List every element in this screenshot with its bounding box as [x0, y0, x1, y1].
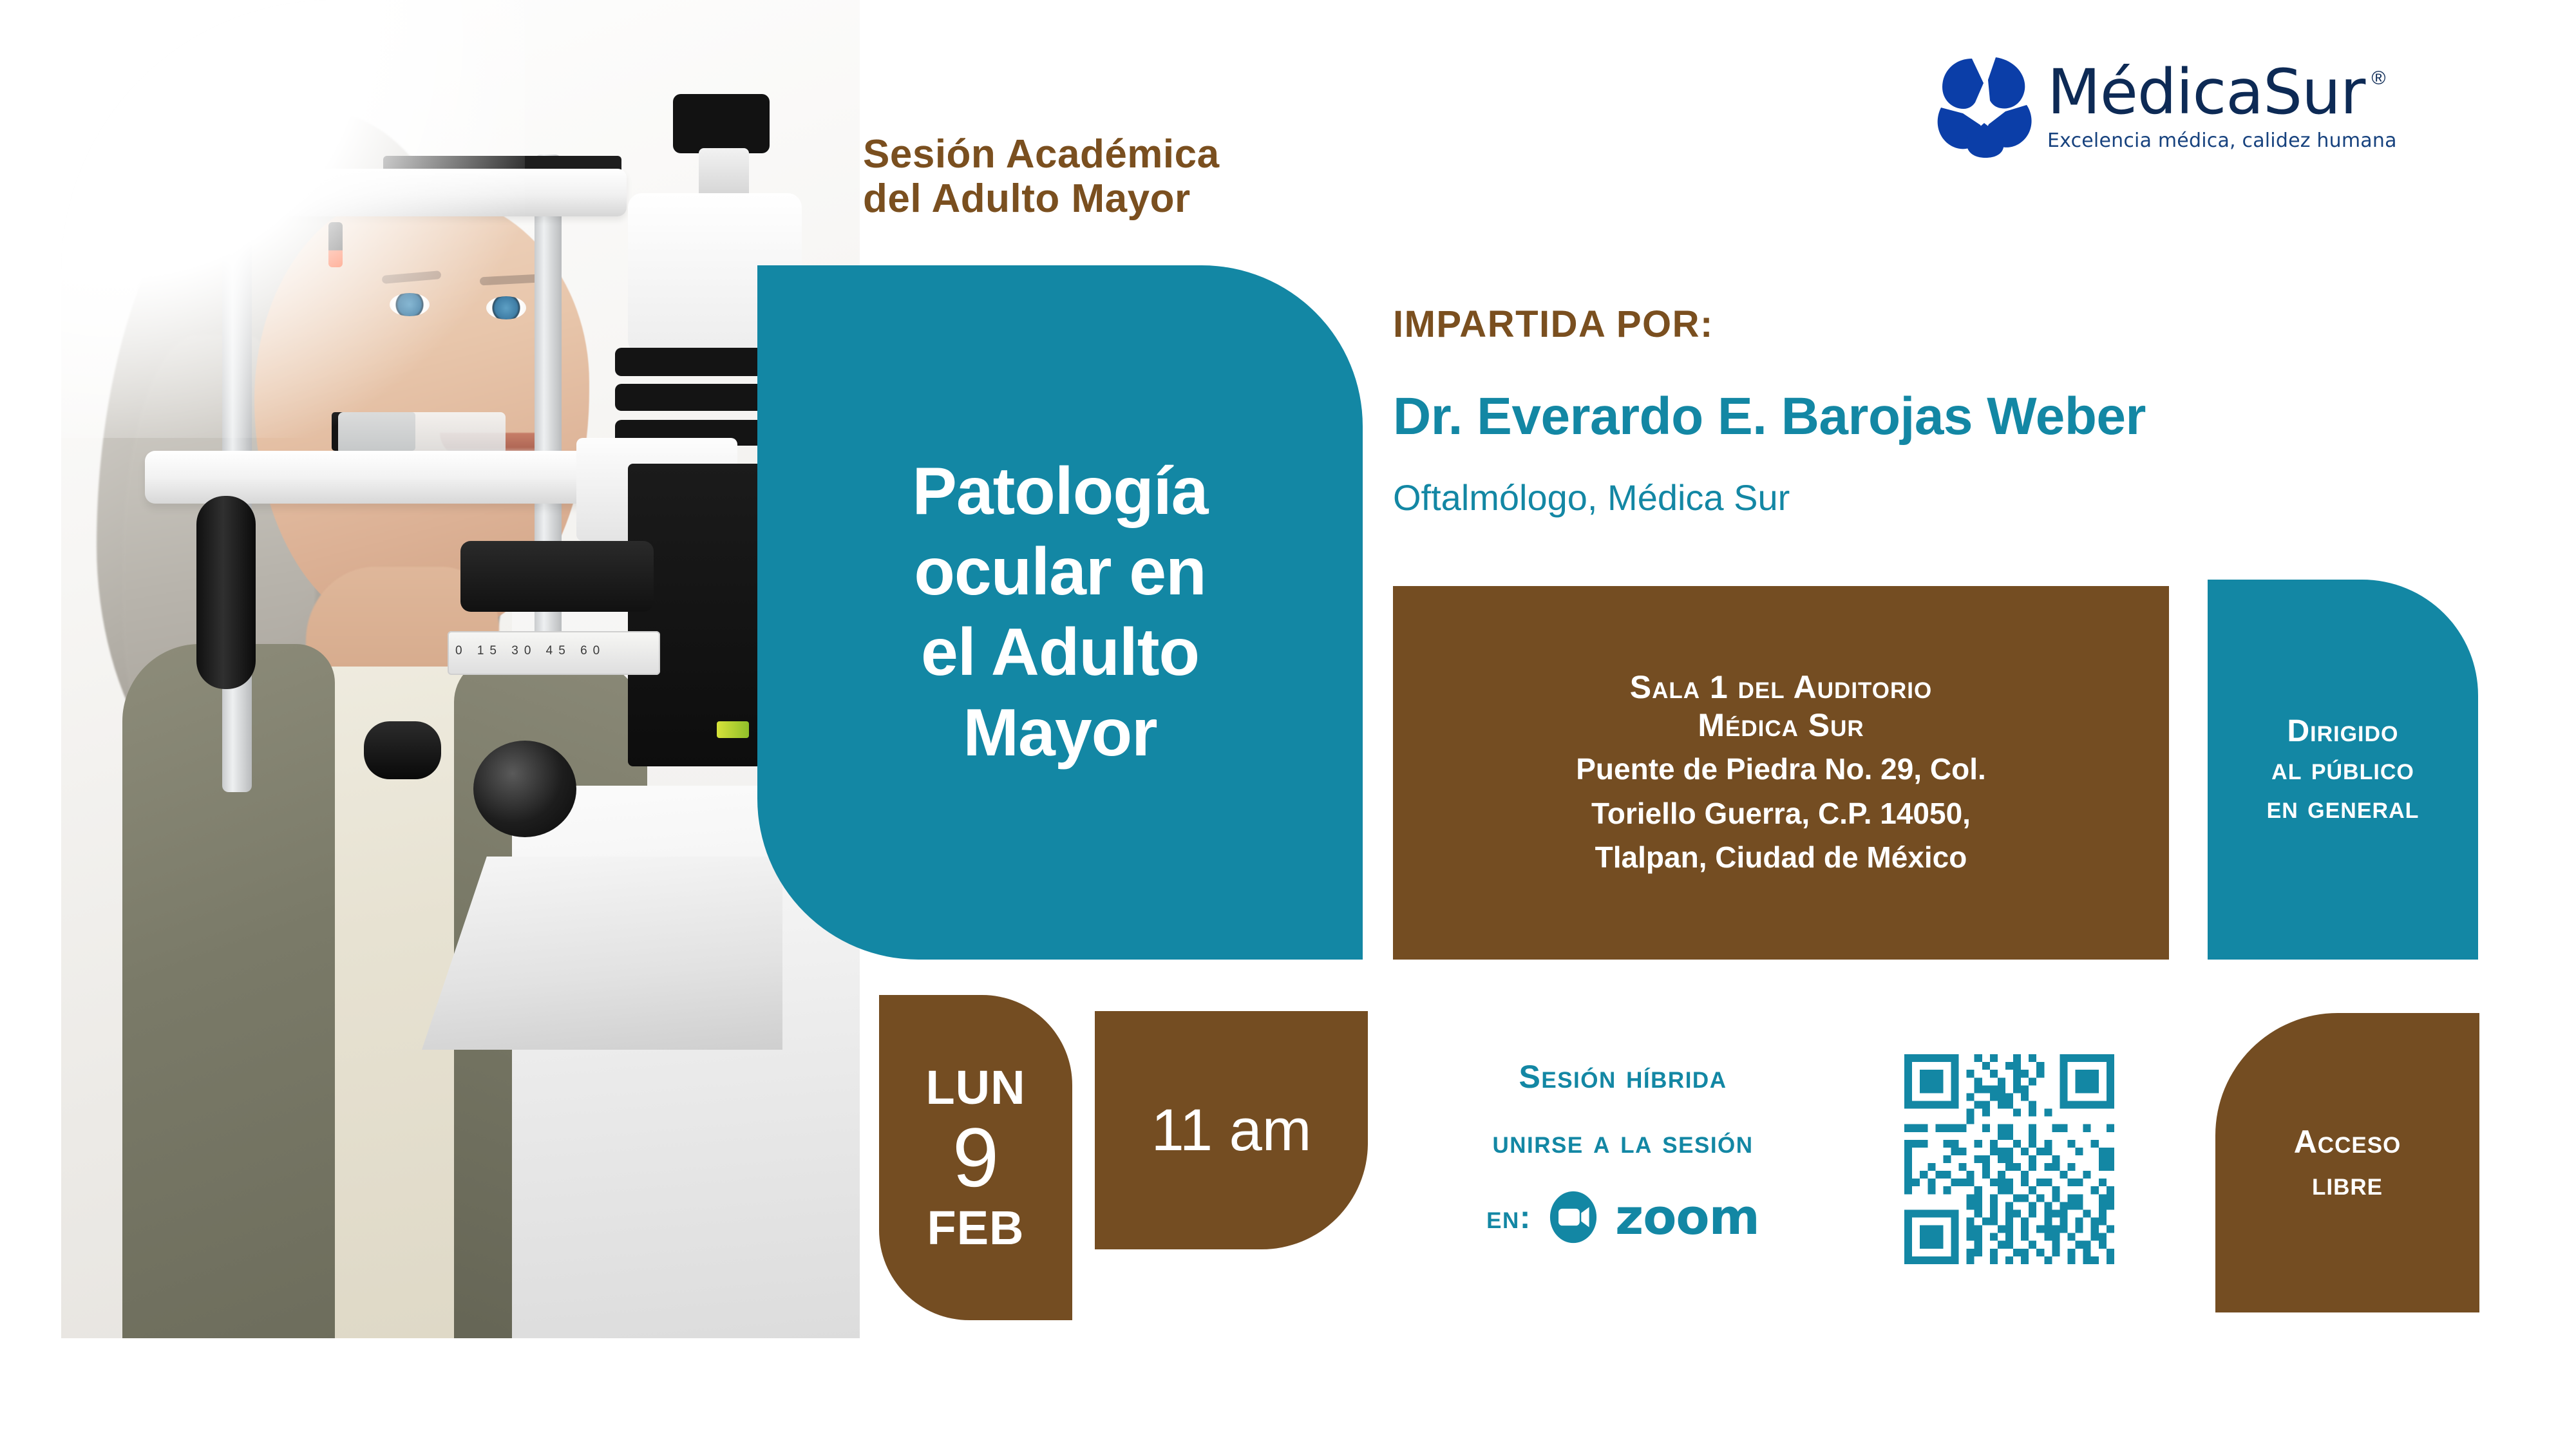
- venue-line-1: Sala 1 del Auditorio: [1630, 668, 1933, 706]
- venue-line-2: Médica Sur: [1698, 706, 1864, 744]
- photo-slitlamp-black-rod: [196, 496, 256, 689]
- hybrid-line-2: unirse a la sesión: [1423, 1124, 1823, 1160]
- zoom-camera-icon: [1547, 1191, 1600, 1244]
- speaker-role: Oftalmólogo, Médica Sur: [1393, 477, 1790, 518]
- speaker-label: IMPARTIDA POR:: [1393, 303, 1714, 346]
- logo-wordmark: MédicaSur ® Excelencia médica, calidez h…: [2047, 61, 2397, 152]
- registered-trademark-icon: ®: [2371, 68, 2385, 90]
- date-badge: LUN 9 FEB: [879, 995, 1072, 1320]
- venue-address-line-3: Tlalpan, Ciudad de México: [1595, 838, 1967, 877]
- photo-slitlamp-dial: [460, 541, 654, 612]
- audience-line-3: en general: [2267, 789, 2420, 828]
- photo-slitlamp-side-knob: [364, 721, 441, 779]
- kicker-line-1: Sesión Académica: [863, 132, 1443, 176]
- date-day-of-week: LUN: [925, 1063, 1025, 1113]
- medica-sur-petal-logo-icon: [1935, 55, 2032, 158]
- zoom-link-row[interactable]: en: zoom: [1423, 1191, 1823, 1244]
- photo-slitlamp-eyepiece: [673, 94, 770, 153]
- photo-white-fade: [61, 0, 525, 438]
- kicker-line-2: del Adulto Mayor: [863, 176, 1443, 221]
- session-title-block: Patología ocular en el Adulto Mayor: [757, 265, 1363, 960]
- qr-code[interactable]: [1897, 1046, 2122, 1272]
- medica-sur-logo: MédicaSur ® Excelencia médica, calidez h…: [1935, 52, 2450, 161]
- photo-scene: 0 15 30 45 60: [61, 0, 860, 1338]
- title-line-3: el Adulto: [912, 612, 1207, 693]
- photo-slitlamp-indicator-light: [717, 721, 749, 738]
- date-month: FEB: [927, 1203, 1025, 1253]
- speaker-name: Dr. Everardo E. Barojas Weber: [1393, 386, 2146, 447]
- date-day-number: 9: [952, 1113, 999, 1202]
- logo-tagline: Excelencia médica, calidez humana: [2047, 129, 2397, 152]
- audience-badge: Dirigido al público en general: [2208, 580, 2478, 960]
- series-kicker: Sesión Académica del Adulto Mayor: [863, 132, 1443, 222]
- audience-line-2: al público: [2267, 750, 2420, 789]
- access-line-1: Acceso: [2294, 1121, 2401, 1163]
- zoom-wordmark: zoom: [1615, 1193, 1759, 1242]
- poster-canvas: 0 15 30 45 60 MédicaSur ®: [0, 0, 2576, 1449]
- photo-slitlamp-joystick-knob: [473, 741, 576, 837]
- hybrid-session-info: Sesión híbrida unirse a la sesión en: zo…: [1423, 1059, 1823, 1244]
- photo-slitlamp-chin-bar: [145, 451, 589, 504]
- audience-line-1: Dirigido: [2267, 712, 2420, 751]
- venue-box: Sala 1 del Auditorio Médica Sur Puente d…: [1393, 586, 2169, 960]
- title-line-1: Patología: [912, 451, 1207, 532]
- title-line-4: Mayor: [912, 693, 1207, 773]
- hybrid-line-1: Sesión híbrida: [1423, 1059, 1823, 1095]
- title-line-2: ocular en: [912, 532, 1207, 612]
- venue-address-line-1: Puente de Piedra No. 29, Col.: [1576, 750, 1986, 789]
- photo-slitlamp-scale-marks: 0 15 30 45 60: [455, 644, 655, 658]
- access-badge: Acceso libre: [2215, 1013, 2479, 1312]
- access-line-2: libre: [2294, 1163, 2401, 1205]
- logo-word-text: MédicaSur: [2047, 61, 2365, 123]
- venue-address-line-2: Toriello Guerra, C.P. 14050,: [1591, 794, 1971, 833]
- time-badge: 11 am: [1095, 1011, 1368, 1249]
- page-title: Patología ocular en el Adulto Mayor: [867, 451, 1253, 773]
- patient-photo: 0 15 30 45 60: [61, 0, 860, 1338]
- zoom-prefix-label: en:: [1486, 1198, 1531, 1236]
